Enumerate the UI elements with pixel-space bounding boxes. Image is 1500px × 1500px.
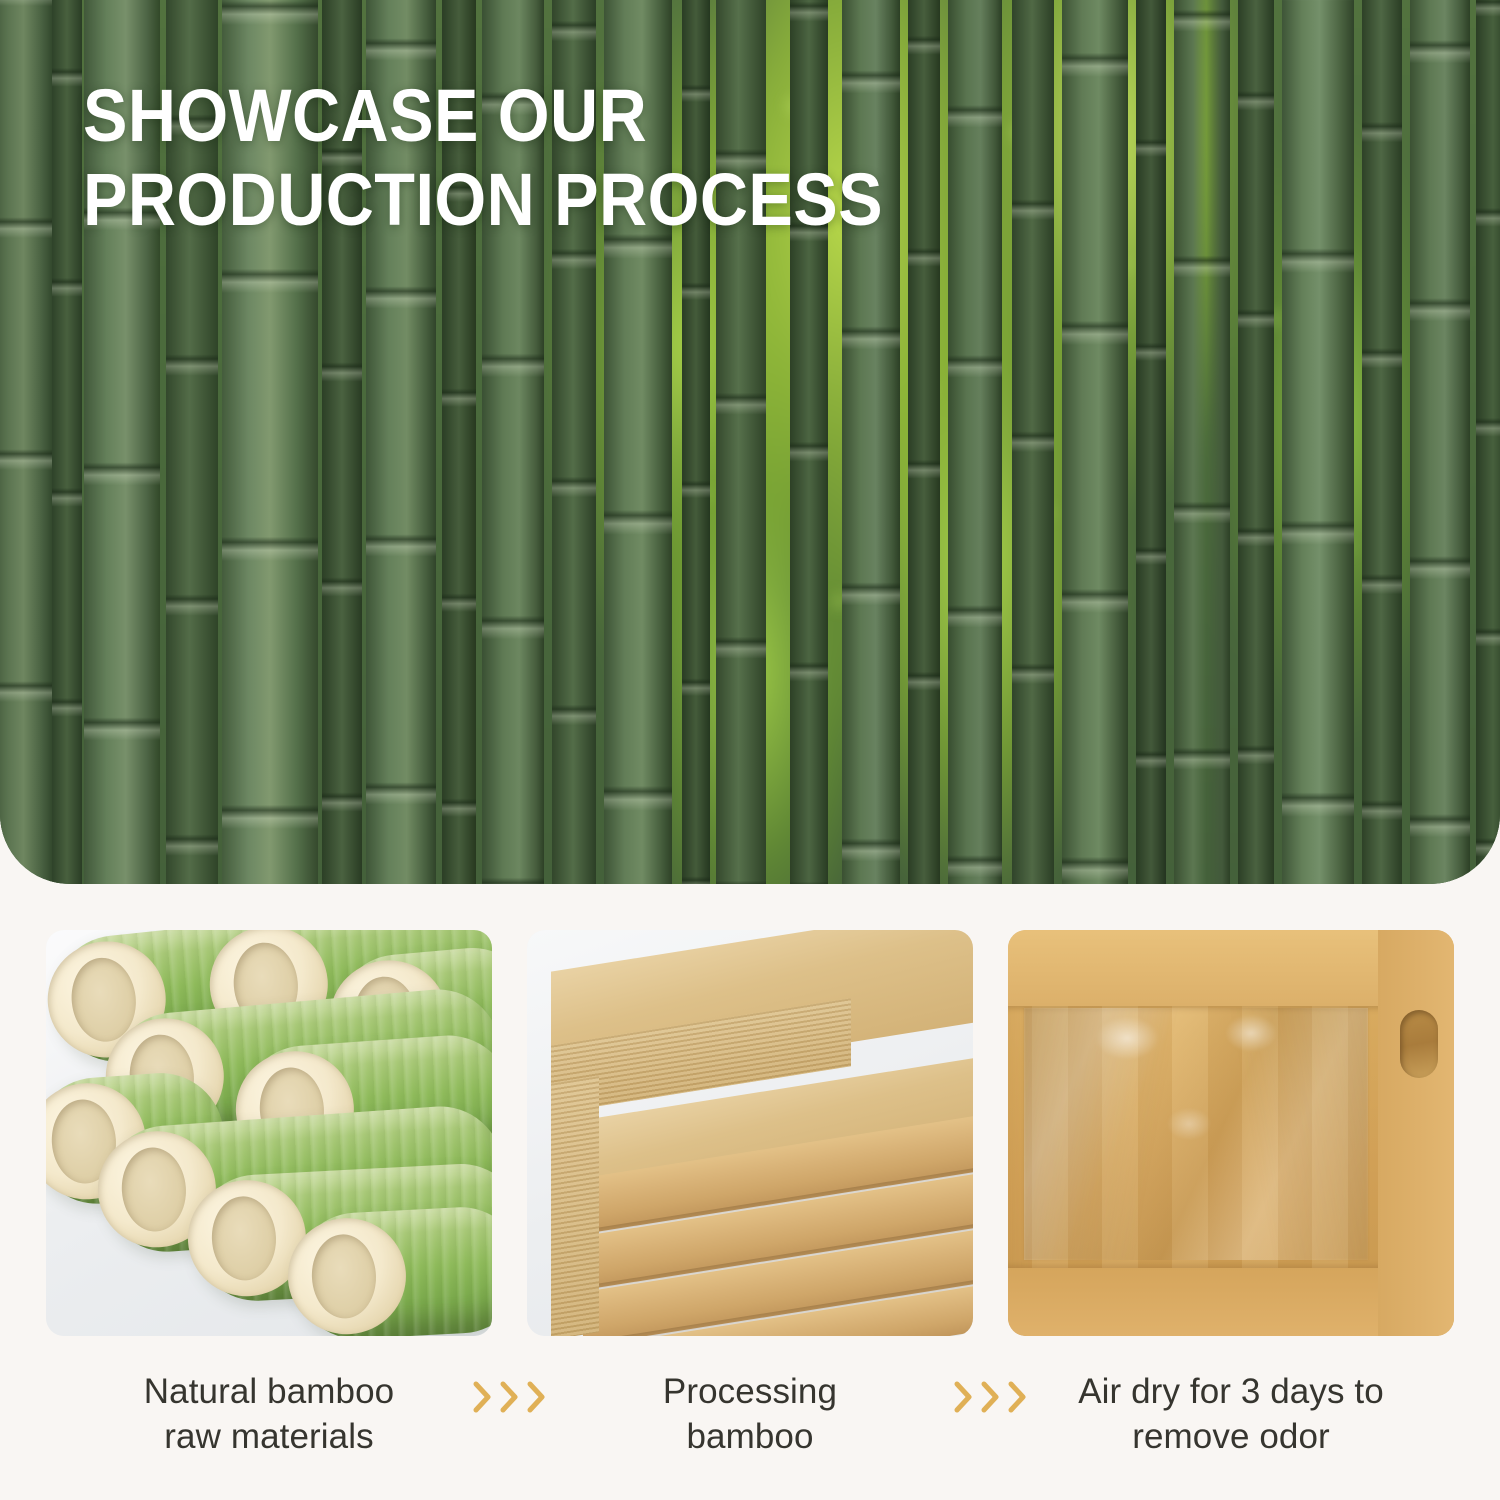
board-hanging-hole — [1400, 1010, 1438, 1078]
process-step-2-image — [527, 930, 973, 1336]
process-step-2-caption: Processing bamboo — [663, 1370, 837, 1460]
hero-title: SHOWCASE OUR PRODUCTION PROCESS — [83, 74, 983, 243]
hero-title-line-1: SHOWCASE OUR — [83, 74, 983, 158]
bamboo-culm — [1410, 0, 1470, 884]
board-reflection — [1024, 1008, 1368, 1260]
bamboo-plank-edge — [551, 1076, 599, 1336]
process-step-1-caption: Natural bamboo raw materials — [144, 1370, 394, 1460]
bamboo-culm — [1136, 0, 1166, 884]
process-step-1-image — [46, 930, 492, 1336]
bamboo-culm — [1174, 0, 1230, 884]
bamboo-cutting-board — [1008, 930, 1454, 1336]
caption-line-2: remove odor — [1078, 1415, 1384, 1460]
product-listing-page: SHOWCASE OUR PRODUCTION PROCESS Natural … — [0, 0, 1500, 1500]
bamboo-culm — [1062, 0, 1128, 884]
process-step-3-image — [1008, 930, 1454, 1336]
caption-line-2: raw materials — [144, 1415, 394, 1460]
hero-title-line-2: PRODUCTION PROCESS — [83, 158, 983, 242]
caption-line-1: Processing — [663, 1370, 837, 1415]
hero-banner: SHOWCASE OUR PRODUCTION PROCESS — [0, 0, 1500, 884]
process-arrow-2 — [973, 930, 1008, 1414]
process-step-3-caption: Air dry for 3 days to remove odor — [1078, 1370, 1384, 1460]
process-step-3: Air dry for 3 days to remove odor — [1008, 930, 1454, 1460]
process-arrow-1 — [492, 930, 527, 1414]
bamboo-culm — [52, 0, 82, 884]
process-step-1: Natural bamboo raw materials — [46, 930, 492, 1460]
board-right-rail — [1378, 930, 1454, 1336]
caption-line-1: Natural bamboo — [144, 1370, 394, 1415]
process-step-2: Processing bamboo — [527, 930, 973, 1460]
bamboo-culm — [1012, 0, 1054, 884]
bamboo-culm — [1476, 0, 1500, 884]
bamboo-pole — [291, 1204, 492, 1336]
caption-line-1: Air dry for 3 days to — [1078, 1370, 1384, 1415]
production-process-steps: Natural bamboo raw materials — [0, 930, 1500, 1490]
caption-line-2: bamboo — [663, 1415, 837, 1460]
bamboo-culm — [1238, 0, 1274, 884]
bamboo-culm — [1362, 0, 1402, 884]
bamboo-culm — [1282, 0, 1354, 884]
bamboo-culm — [0, 0, 54, 884]
